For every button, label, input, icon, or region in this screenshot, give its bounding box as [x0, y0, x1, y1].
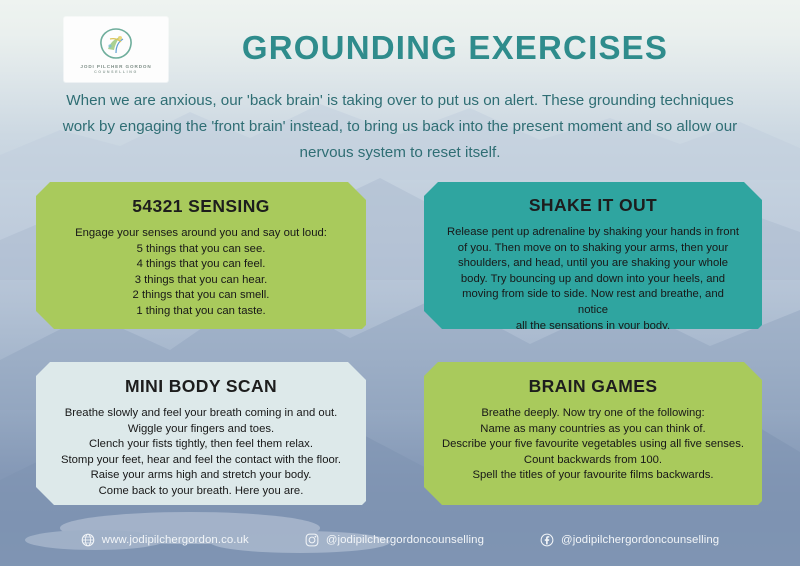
- card-line: of you. Then move on to shaking your arm…: [446, 241, 740, 257]
- card-heading: MINI BODY SCAN: [52, 376, 350, 397]
- card-body: Release pent up adrenaline by shaking yo…: [446, 225, 740, 334]
- card-line: Wiggle your fingers and toes.: [52, 422, 350, 438]
- card-line: shoulders, and head, until you are shaki…: [446, 256, 740, 272]
- card-mini-body-scan: MINI BODY SCAN Breathe slowly and feel y…: [36, 362, 366, 505]
- card-line: Breathe deeply. Now try one of the follo…: [436, 406, 750, 422]
- card-shake-it-out: SHAKE IT OUT Release pent up adrenaline …: [424, 182, 762, 329]
- card-body: Engage your senses around you and say ou…: [58, 226, 344, 320]
- instagram-icon: [305, 533, 319, 547]
- card-body: Breathe slowly and feel your breath comi…: [52, 406, 350, 500]
- card-line: 4 things that you can feel.: [58, 257, 344, 273]
- footer-instagram[interactable]: @jodipilchergordoncounselling: [305, 533, 484, 547]
- footer-facebook-text: @jodipilchergordoncounselling: [561, 534, 719, 546]
- footer-website[interactable]: www.jodipilchergordon.co.uk: [81, 533, 249, 547]
- logo-brand-name: JODI PILCHER GORDON: [80, 64, 151, 69]
- card-line: Raise your arms high and stretch your bo…: [52, 468, 350, 484]
- card-line: Spell the titles of your favourite films…: [436, 468, 750, 484]
- card-line: Count backwards from 100.: [436, 453, 750, 469]
- grounding-exercises-poster: JODI PILCHER GORDON COUNSELLING GROUNDIN…: [0, 0, 800, 566]
- brain-leaf-logo-icon: [96, 27, 136, 61]
- card-body: Breathe deeply. Now try one of the follo…: [436, 406, 750, 484]
- facebook-icon: [540, 533, 554, 547]
- card-line: all the sensations in your body.: [446, 319, 740, 335]
- card-line: 2 things that you can smell.: [58, 288, 344, 304]
- footer-website-text: www.jodipilchergordon.co.uk: [102, 534, 249, 546]
- card-heading: 54321 SENSING: [58, 196, 344, 217]
- card-line: body. Try bouncing up and down into your…: [446, 272, 740, 288]
- card-line: moving from side to side. Now rest and b…: [446, 287, 740, 318]
- card-line: 5 things that you can see.: [58, 242, 344, 258]
- card-heading: BRAIN GAMES: [436, 376, 750, 397]
- card-line: Come back to your breath. Here you are.: [52, 484, 350, 500]
- page-title: GROUNDING EXERCISES: [190, 26, 720, 70]
- footer-contact-bar: www.jodipilchergordon.co.uk @jodipilcher…: [0, 527, 800, 553]
- card-line: Clench your fists tightly, then feel the…: [52, 437, 350, 453]
- card-line: 3 things that you can hear.: [58, 273, 344, 289]
- card-brain-games: BRAIN GAMES Breathe deeply. Now try one …: [424, 362, 762, 505]
- card-line: Name as many countries as you can think …: [436, 422, 750, 438]
- globe-icon: [81, 533, 95, 547]
- card-line: Engage your senses around you and say ou…: [58, 226, 344, 242]
- logo-brand-tagline: COUNSELLING: [94, 70, 138, 74]
- page-intro: When we are anxious, our 'back brain' is…: [62, 88, 738, 166]
- brand-logo: JODI PILCHER GORDON COUNSELLING: [64, 17, 168, 82]
- card-heading: SHAKE IT OUT: [446, 195, 740, 216]
- card-line: Breathe slowly and feel your breath comi…: [52, 406, 350, 422]
- card-54321-sensing: 54321 SENSING Engage your senses around …: [36, 182, 366, 329]
- card-line: 1 thing that you can taste.: [58, 304, 344, 320]
- footer-instagram-text: @jodipilchergordoncounselling: [326, 534, 484, 546]
- card-line: Stomp your feet, hear and feel the conta…: [52, 453, 350, 469]
- card-line: Describe your five favourite vegetables …: [436, 437, 750, 453]
- footer-facebook[interactable]: @jodipilchergordoncounselling: [540, 533, 719, 547]
- card-line: Release pent up adrenaline by shaking yo…: [446, 225, 740, 241]
